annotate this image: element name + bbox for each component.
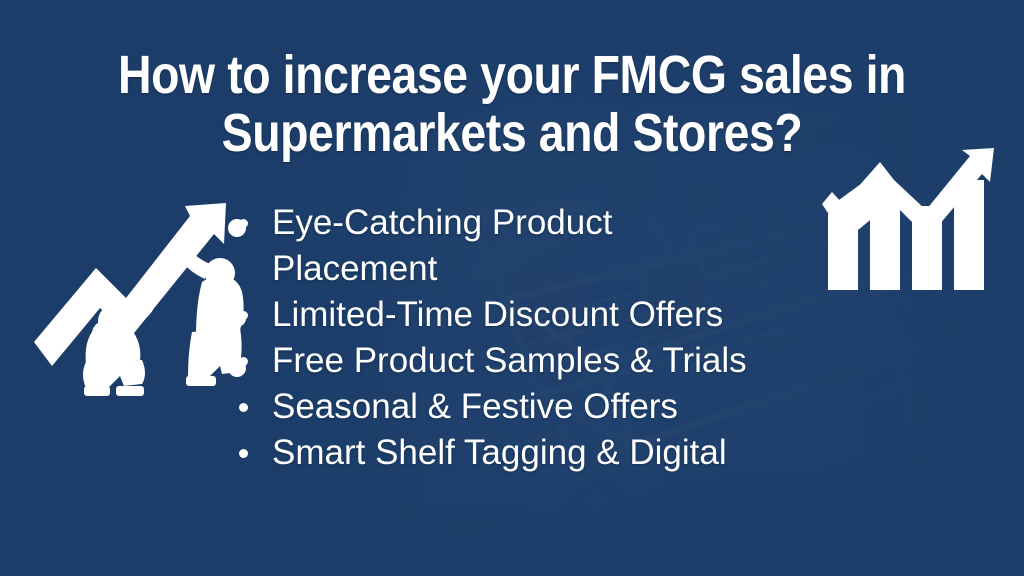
- slide-canvas: How to increase your FMCG sales in Super…: [0, 0, 1024, 576]
- list-item: Free Product Samples & Trials: [232, 338, 932, 384]
- list-item: Eye-Catching Product Placement: [232, 200, 932, 292]
- title-line-1: How to increase your FMCG sales in: [72, 46, 953, 104]
- title-line-2: Supermarkets and Stores?: [72, 104, 953, 162]
- list-item: Limited-Time Discount Offers: [232, 292, 932, 338]
- list-item: Smart Shelf Tagging & Digital: [232, 430, 932, 476]
- tips-bullet-list: Eye-Catching Product Placement Limited-T…: [232, 200, 932, 476]
- list-item: Seasonal & Festive Offers: [232, 384, 932, 430]
- background-bottom-fade: [0, 496, 1024, 576]
- people-lifting-growth-arrow-icon: [30, 190, 260, 400]
- slide-title: How to increase your FMCG sales in Super…: [72, 46, 953, 162]
